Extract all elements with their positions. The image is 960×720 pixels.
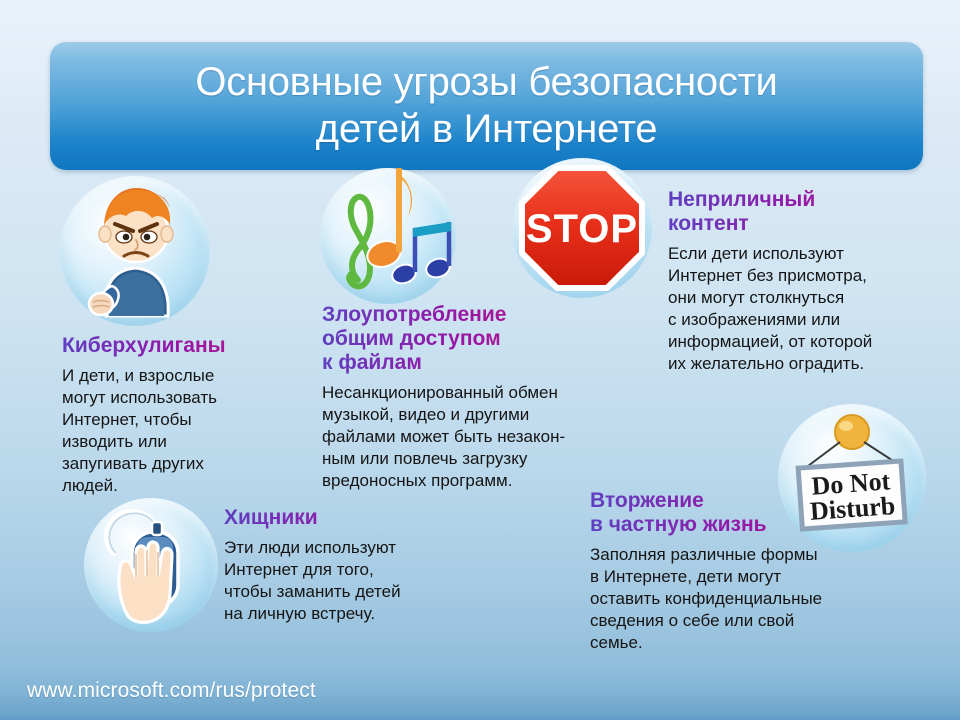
- slide-canvas: Основные угрозы безопасности детей в Инт…: [0, 0, 960, 720]
- footer-url[interactable]: www.microsoft.com/rus/protect: [0, 679, 316, 703]
- threat-body-privacy: Заполняя различные формы в Интернете, де…: [590, 544, 920, 654]
- threat-block-privacy: Вторжение в частную жизнь Заполняя разли…: [590, 489, 920, 654]
- threat-block-filesharing: Злоупотребление общим доступом к файлам …: [322, 303, 590, 492]
- threat-heading-cyberbully: Киберхулиганы: [62, 334, 298, 358]
- threat-body-predators: Эти люди используют Интернет для того, ч…: [224, 537, 490, 625]
- stop-sign-icon: STOP: [512, 158, 652, 298]
- stop-sign-label: STOP: [526, 207, 638, 251]
- threat-block-cyberbully: Киберхулиганы И дети, и взрослые могут и…: [62, 334, 298, 498]
- threat-body-filesharing: Несанкционированный обмен музыкой, видео…: [322, 382, 590, 492]
- threat-body-content: Если дети используют Интернет без присмо…: [668, 243, 950, 376]
- footer-bar: www.microsoft.com/rus/protect: [0, 661, 960, 720]
- angry-boy-icon: [60, 176, 210, 326]
- threat-heading-predators: Хищники: [224, 506, 490, 530]
- threat-heading-privacy: Вторжение в частную жизнь: [590, 489, 920, 537]
- threat-heading-content: Неприличный контент: [668, 188, 950, 236]
- threat-heading-filesharing: Злоупотребление общим доступом к файлам: [322, 303, 590, 375]
- title-banner: Основные угрозы безопасности детей в Инт…: [50, 42, 923, 170]
- page-title: Основные угрозы безопасности детей в Инт…: [167, 59, 805, 153]
- threat-block-content: Неприличный контент Если дети используют…: [668, 188, 950, 375]
- threat-body-cyberbully: И дети, и взрослые могут использовать Ин…: [62, 365, 298, 498]
- threat-block-predators: Хищники Эти люди используют Интернет для…: [224, 506, 490, 625]
- music-notes-icon: [320, 168, 456, 304]
- hand-on-mouse-icon: [84, 498, 218, 632]
